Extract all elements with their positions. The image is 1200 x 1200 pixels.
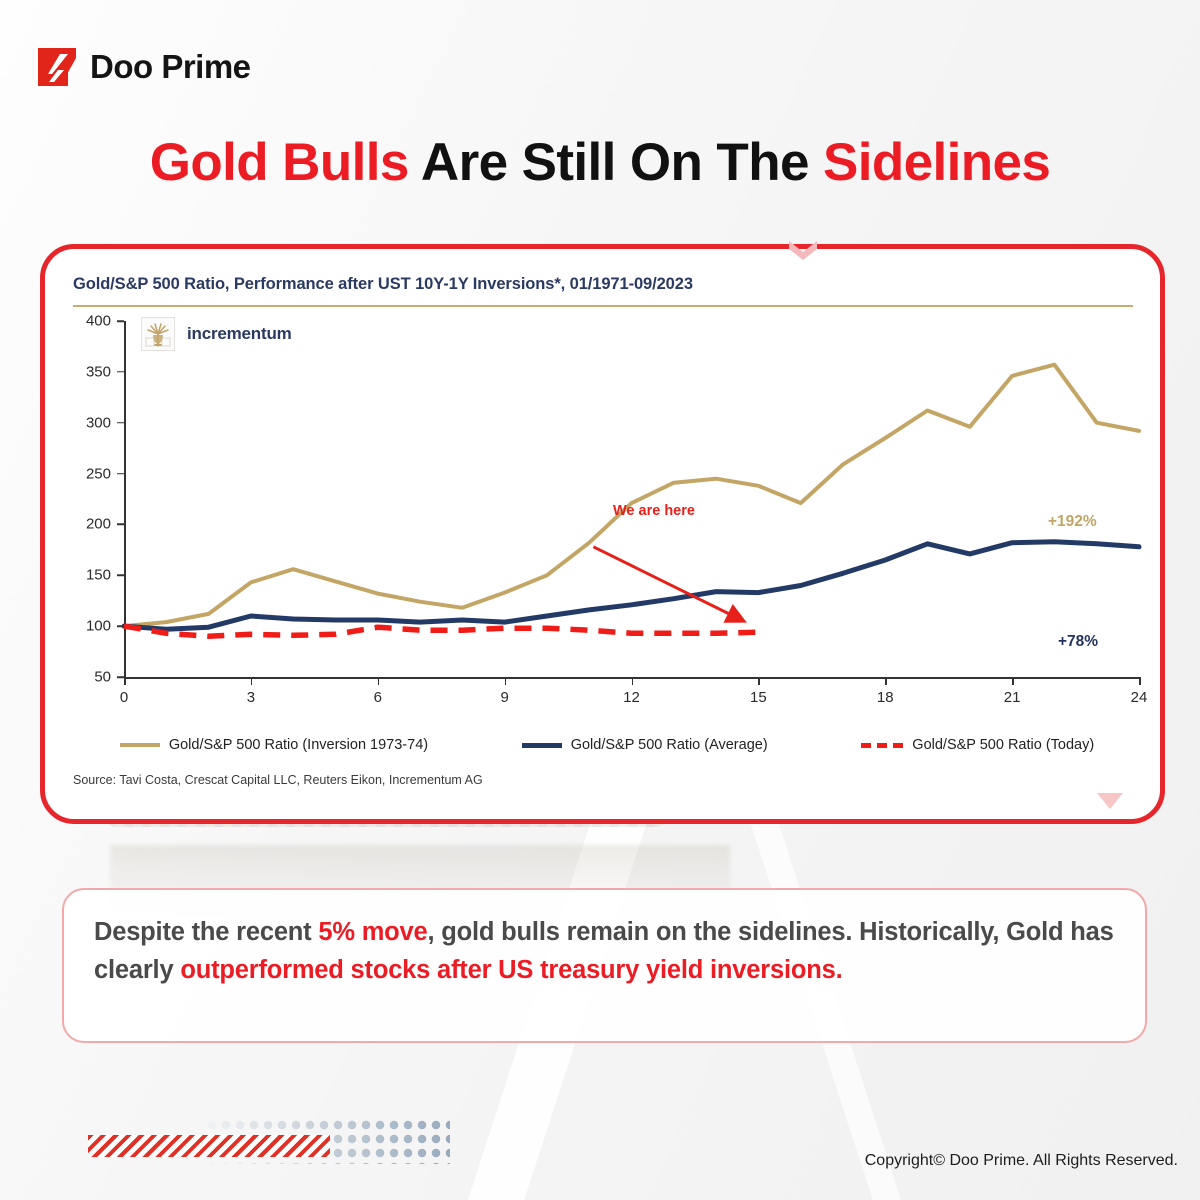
callout-l1a: Despite the recent [94,918,318,946]
doo-prime-flag-icon [38,48,76,86]
chart-legend: Gold/S&P 500 Ratio (Inversion 1973-74) G… [73,737,1141,753]
x-tick-mark [505,677,507,685]
callout-text: Despite the recent 5% move, gold bulls r… [94,914,1115,989]
headline-part-2: Are Still On The [421,133,823,192]
x-tick-mark [1139,677,1141,685]
headline-part-1: Gold Bulls [150,133,421,192]
x-tick-mark [1012,677,1014,685]
x-tick-mark [885,677,887,685]
series-line-2 [124,542,1139,630]
brand-name: Doo Prime [90,48,251,86]
callout-l2b: outperformed stocks after US treasury [180,956,639,984]
chart-source: Source: Tavi Costa, Crescat Capital LLC,… [73,773,483,787]
title-divider [73,305,1133,307]
y-tick-mark [117,625,124,627]
page-title: Gold Bulls Are Still On The Sidelines [0,132,1200,193]
x-tick-label: 9 [500,689,508,706]
y-tick-mark [117,320,124,322]
x-tick-mark [124,677,126,685]
legend-swatch-red-dashed-icon [861,743,903,748]
y-tick-mark [117,422,124,424]
callout-l1b: 5% move [318,918,427,946]
navy-end-label: +78% [1058,633,1098,651]
legend-item-inversion[interactable]: Gold/S&P 500 Ratio (Inversion 1973-74) [120,737,428,753]
legend-item-average[interactable]: Gold/S&P 500 Ratio (Average) [522,737,768,753]
y-tick-mark [117,371,124,373]
x-tick-label: 12 [623,689,640,706]
headline-part-3: Sidelines [823,133,1050,192]
decor-stripe-bar [88,1135,330,1157]
gold-end-label: +192% [1048,513,1097,531]
x-tick-mark [251,677,253,685]
x-tick-label: 15 [750,689,767,706]
chart-plot-area: incrementum 50100150200250300350400 +192… [73,321,1139,711]
x-tick-mark [758,677,760,685]
x-tick-label: 24 [1131,689,1148,706]
x-tick-label: 21 [1004,689,1021,706]
we-are-here-annotation: We are here [613,503,695,519]
legend-item-today[interactable]: Gold/S&P 500 Ratio (Today) [861,737,1094,753]
legend-swatch-gold-icon [120,743,160,747]
legend-label-average: Gold/S&P 500 Ratio (Average) [571,737,768,753]
x-tick-label: 0 [120,689,128,706]
summary-callout: Despite the recent 5% move, gold bulls r… [62,888,1147,1043]
x-tick-label: 18 [877,689,894,706]
chart-series-layer [73,321,1139,711]
chart-card: Gold/S&P 500 Ratio, Performance after US… [40,244,1165,824]
legend-label-inversion: Gold/S&P 500 Ratio (Inversion 1973-74) [169,737,428,753]
series-line-1 [124,365,1139,626]
x-tick-label: 6 [374,689,382,706]
callout-l3b: yield inversions. [646,956,842,984]
x-tick-mark [632,677,634,685]
x-tick-label: 3 [247,689,255,706]
callout-l1c: , gold bulls remain on the sidelines. [428,918,853,946]
legend-swatch-navy-icon [522,743,562,748]
x-tick-mark [378,677,380,685]
y-tick-mark [117,473,124,475]
y-tick-mark [117,524,124,526]
y-tick-mark [117,676,124,678]
y-tick-mark [117,575,124,577]
brand-logo: Doo Prime [38,48,251,86]
chart-title: Gold/S&P 500 Ratio, Performance after US… [73,275,693,294]
footer-copyright: Copyright© Doo Prime. All Rights Reserve… [865,1152,1178,1170]
series-line-3 [124,626,758,636]
legend-label-today: Gold/S&P 500 Ratio (Today) [912,737,1094,753]
